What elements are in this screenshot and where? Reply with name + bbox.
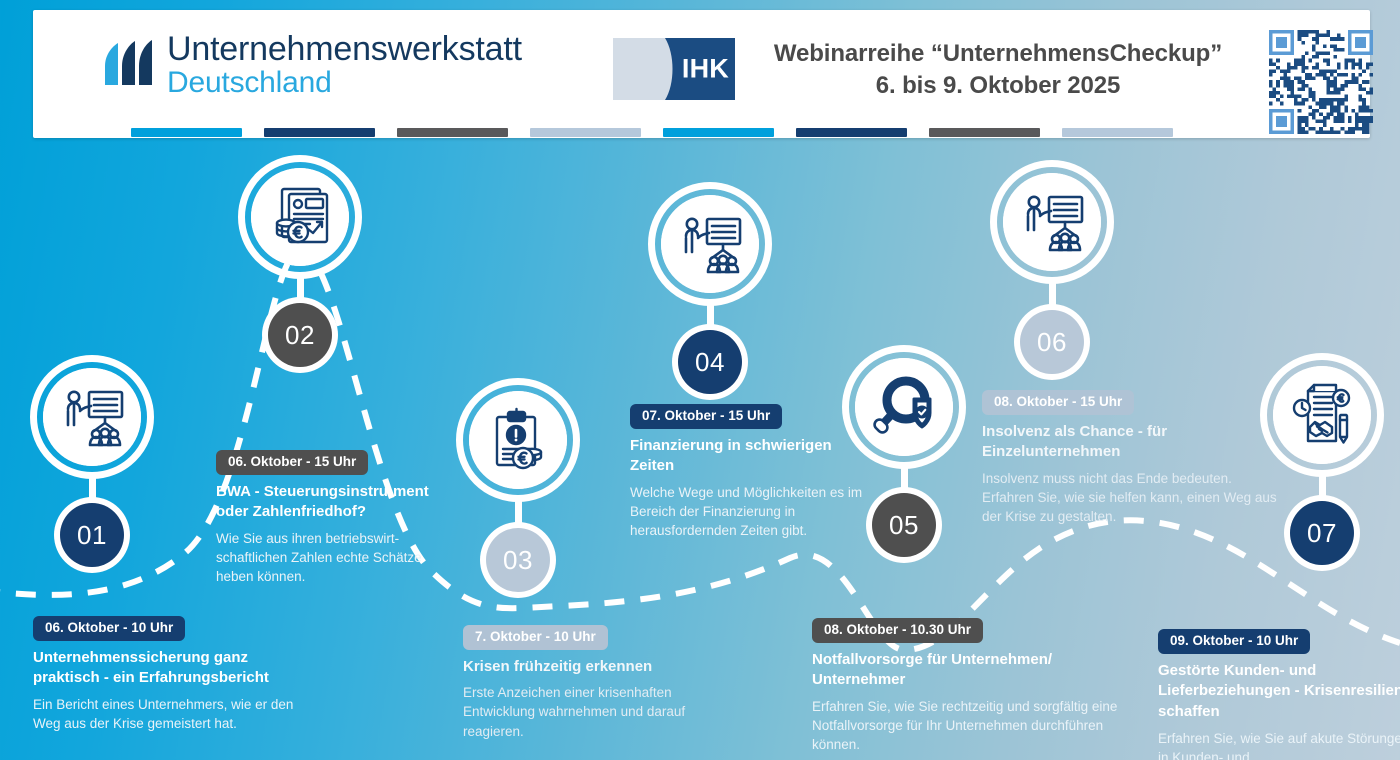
session-description: Insolvenz muss nicht das Ende bedeuten. …: [982, 469, 1282, 526]
session-title: BWA - Steuerungsinstru-ment oder Zahlenf…: [216, 482, 456, 523]
brand-bar-5: [663, 128, 774, 137]
brand-bar-3: [397, 128, 508, 137]
timeline-text-block-03: 7. Oktober - 10 UhrKrisen frühzeitig erk…: [463, 625, 743, 741]
node-number-badge[interactable]: 06: [1014, 304, 1090, 380]
brand-bar-6: [796, 128, 907, 137]
date-badge: 06. Oktober - 10 Uhr: [33, 616, 185, 641]
date-badge: 07. Oktober - 15 Uhr: [630, 404, 782, 429]
brand-bar-4: [530, 128, 641, 137]
logo-line-1: Unternehmenswerkstatt: [167, 32, 522, 66]
session-description: Ein Bericht eines Unternehmers, wie er d…: [33, 695, 303, 733]
report-coins-chart-icon: [251, 168, 349, 266]
session-description: Erfahren Sie, wie Sie rechtzeitig und so…: [812, 697, 1122, 754]
brand-bar-2: [264, 128, 375, 137]
title-line-2: 6. bis 9. Oktober 2025: [748, 70, 1248, 102]
contract-handshake-icon: [1273, 366, 1371, 464]
node-number-badge[interactable]: 07: [1284, 495, 1360, 571]
brand-bar-7: [929, 128, 1040, 137]
node-number-badge[interactable]: 03: [480, 522, 556, 598]
session-description: Wie Sie aus ihren betriebswirt-schaftlic…: [216, 529, 456, 586]
ihk-logo: IHK: [613, 38, 735, 100]
uwd-bars-logo-icon: [101, 36, 157, 92]
brand-bar-8: [1062, 128, 1173, 137]
node-number-badge[interactable]: 02: [262, 297, 338, 373]
header-card: Unternehmenswerkstatt Deutschland IHK We…: [33, 10, 1370, 138]
clipboard-alert-euro-icon: [469, 391, 567, 489]
session-title: Unternehmenssicherung ganz praktisch - e…: [33, 648, 303, 689]
date-badge: 09. Oktober - 10 Uhr: [1158, 629, 1310, 654]
node-number-badge[interactable]: 04: [672, 324, 748, 400]
presenter-audience-icon: [43, 368, 141, 466]
timeline-text-block-04: 07. Oktober - 15 UhrFinanzierung in schw…: [630, 404, 880, 540]
session-title: Gestörte Kunden- und Lieferbeziehungen -…: [1158, 661, 1400, 723]
node-number-label: 06: [1020, 310, 1084, 374]
date-badge: 06. Oktober - 15 Uhr: [216, 450, 368, 475]
logo-line-2: Deutschland: [167, 68, 522, 98]
date-badge: 08. Oktober - 15 Uhr: [982, 390, 1134, 415]
node-number-label: 02: [268, 303, 332, 367]
timeline-text-block-07: 09. Oktober - 10 UhrGestörte Kunden- und…: [1158, 629, 1400, 760]
timeline-text-block-05: 08. Oktober - 10.30 UhrNotfallvorsorge f…: [812, 618, 1122, 754]
timeline-text-block-02: 06. Oktober - 15 UhrBWA - Steuerungsinst…: [216, 450, 456, 586]
date-badge: 08. Oktober - 10.30 Uhr: [812, 618, 983, 643]
node-number-label: 03: [486, 528, 550, 592]
brand-bar-1: [131, 128, 242, 137]
session-description: Erfahren Sie, wie Sie auf akute Störunge…: [1158, 729, 1400, 760]
presenter-audience-icon: [661, 195, 759, 293]
qr-code-icon[interactable]: [1269, 30, 1373, 134]
page-title: Webinarreihe “UnternehmensCheckup” 6. bi…: [748, 38, 1248, 102]
presenter-audience-icon: [1003, 173, 1101, 271]
node-number-label: 01: [60, 503, 124, 567]
timeline-text-block-01: 06. Oktober - 10 UhrUnternehmenssicherun…: [33, 616, 303, 733]
brand-logo: Unternehmenswerkstatt Deutschland: [101, 32, 522, 98]
title-line-1: Webinarreihe “UnternehmensCheckup”: [748, 38, 1248, 70]
session-title: Insolvenz als Chance - für Einzelunterne…: [982, 422, 1282, 463]
session-description: Erste Anzeichen einer krisenhaften Entwi…: [463, 683, 743, 740]
node-number-label: 07: [1290, 501, 1354, 565]
node-number-badge[interactable]: 01: [54, 497, 130, 573]
session-title: Finanzierung in schwierigen Zeiten: [630, 436, 880, 477]
node-number-label: 05: [872, 493, 936, 557]
brand-color-bars: [131, 128, 1173, 137]
session-description: Welche Wege und Möglichkeiten es im Bere…: [630, 483, 880, 540]
session-title: Krisen frühzeitig erkennen: [463, 657, 743, 678]
timeline-text-block-06: 08. Oktober - 15 UhrInsolvenz als Chance…: [982, 390, 1282, 526]
ihk-logo-text: IHK: [682, 54, 729, 85]
session-title: Notfallvorsorge für Unternehmen/ Unterne…: [812, 650, 1122, 691]
date-badge: 7. Oktober - 10 Uhr: [463, 625, 608, 650]
node-number-label: 04: [678, 330, 742, 394]
